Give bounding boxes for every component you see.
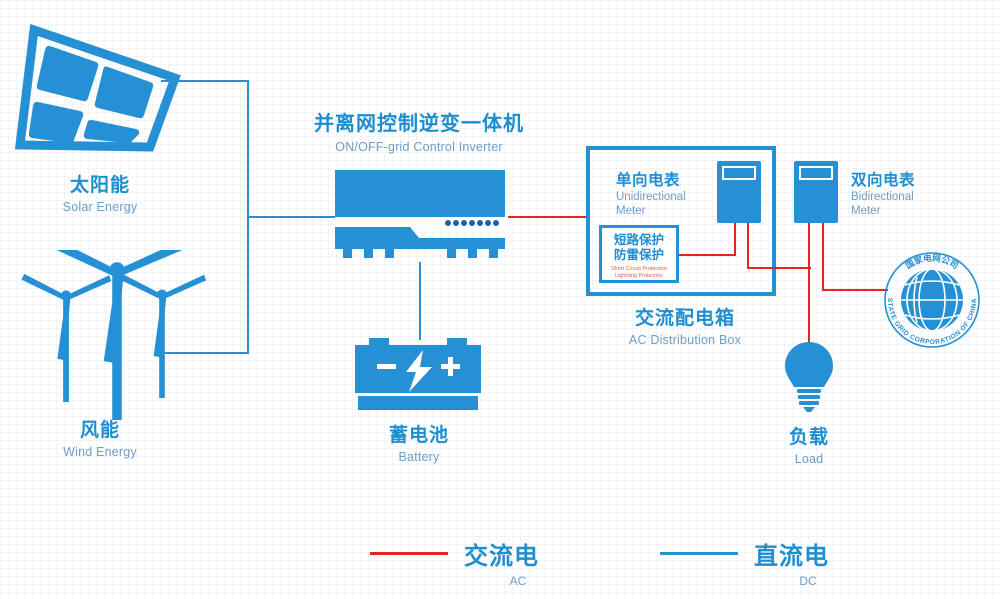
uni-meter-label-en2: Meter <box>616 204 712 218</box>
wire-bimeter-to-load <box>808 223 810 348</box>
wire-meter-left-leg <box>734 223 736 255</box>
bi-meter-label-en2: Meter <box>851 204 961 218</box>
solar-label-en: Solar Energy <box>40 200 160 215</box>
load-label: 负载 Load <box>759 427 859 467</box>
legend-dc-en: DC <box>778 574 838 588</box>
wire-wind-horizontal <box>158 352 249 354</box>
uni-meter-label-cn: 单向电表 <box>616 168 712 190</box>
wire-uni-to-bi-meter <box>747 267 811 269</box>
wire-inverter-to-battery <box>419 262 421 340</box>
inverter-vent-row <box>445 220 505 228</box>
battery-label: 蓄电池 Battery <box>359 425 479 465</box>
electric-meter-icon-bidirectional <box>794 161 838 223</box>
state-grid-logo-icon: 国家电网公司 STATE GRID CORPORATION OF CHINA <box>881 249 983 351</box>
wind-label-en: Wind Energy <box>40 445 160 460</box>
wind-turbine-icon <box>14 250 224 420</box>
wind-label-cn: 风能 <box>40 420 160 442</box>
battery-label-cn: 蓄电池 <box>359 425 479 447</box>
legend-ac-line <box>370 552 448 555</box>
protection-cn-line1: 短路保护 <box>602 233 676 248</box>
meter-display-screen-bi <box>799 166 833 180</box>
solar-label-cn: 太阳能 <box>40 175 160 197</box>
bi-meter-label-en1: Bidirectional <box>851 190 961 204</box>
lightning-bolt-icon <box>401 350 437 392</box>
inverter-lower-body <box>335 227 505 249</box>
wire-meter-right-leg <box>747 223 749 268</box>
inverter-icon <box>335 170 505 265</box>
protection-cn-line2: 防雷保护 <box>602 248 676 263</box>
inverter-upper-body <box>335 170 505 217</box>
solar-label: 太阳能 Solar Energy <box>40 175 160 215</box>
protection-module-icon: 短路保护 防雷保护 Short Circuit Protection Light… <box>599 225 679 283</box>
battery-base <box>358 396 478 410</box>
battery-label-en: Battery <box>359 450 479 465</box>
svg-text:国家电网公司: 国家电网公司 <box>904 252 961 271</box>
energy-system-diagram: 太阳能 Solar Energy <box>0 0 1000 599</box>
wind-label: 风能 Wind Energy <box>40 420 160 460</box>
legend-dc-line <box>660 552 738 555</box>
acbox-label: 交流配电箱 AC Distribution Box <box>620 308 750 348</box>
wire-protection-to-meter <box>679 254 736 256</box>
legend-ac-en: AC <box>488 574 548 588</box>
unidirectional-meter-label: 单向电表 Unidirectional Meter <box>616 168 712 219</box>
legend-item-ac: 交流电 <box>370 536 550 571</box>
bidirectional-meter-label: 双向电表 Bidirectional Meter <box>851 168 961 219</box>
inverter-label-cn: 并离网控制逆变一体机 <box>305 113 533 137</box>
protection-en-line1: Short Circuit Protection <box>602 266 676 274</box>
wire-bimeter-to-grid-vertical <box>822 223 824 290</box>
battery-minus-sign <box>377 364 396 369</box>
wire-inverter-to-acbox <box>508 216 590 218</box>
wire-bimeter-to-grid-horizontal <box>822 289 888 291</box>
battery-icon <box>355 338 483 410</box>
meter-display-screen <box>722 166 756 180</box>
uni-meter-label-en1: Unidirectional <box>616 190 712 204</box>
load-label-en: Load <box>759 452 859 467</box>
wire-solar-horizontal <box>161 80 249 82</box>
battery-plus-sign-vertical <box>448 357 453 376</box>
acbox-label-en: AC Distribution Box <box>620 333 750 348</box>
protection-en-line2: Lightning Protection <box>602 273 676 281</box>
electric-meter-icon-unidirectional <box>717 161 761 223</box>
legend-item-dc: 直流电 <box>660 536 850 571</box>
bi-meter-label-cn: 双向电表 <box>851 168 961 190</box>
inverter-label: 并离网控制逆变一体机 ON/OFF-grid Control Inverter <box>305 113 533 154</box>
load-label-cn: 负载 <box>759 427 859 449</box>
legend-dc-cn: 直流电 <box>754 536 829 571</box>
light-bulb-icon <box>783 340 835 412</box>
solar-panel-icon <box>10 10 185 155</box>
legend-ac-cn: 交流电 <box>464 536 539 571</box>
wire-dc-to-inverter <box>247 216 337 218</box>
inverter-label-en: ON/OFF-grid Control Inverter <box>305 140 533 155</box>
acbox-label-cn: 交流配电箱 <box>620 308 750 330</box>
